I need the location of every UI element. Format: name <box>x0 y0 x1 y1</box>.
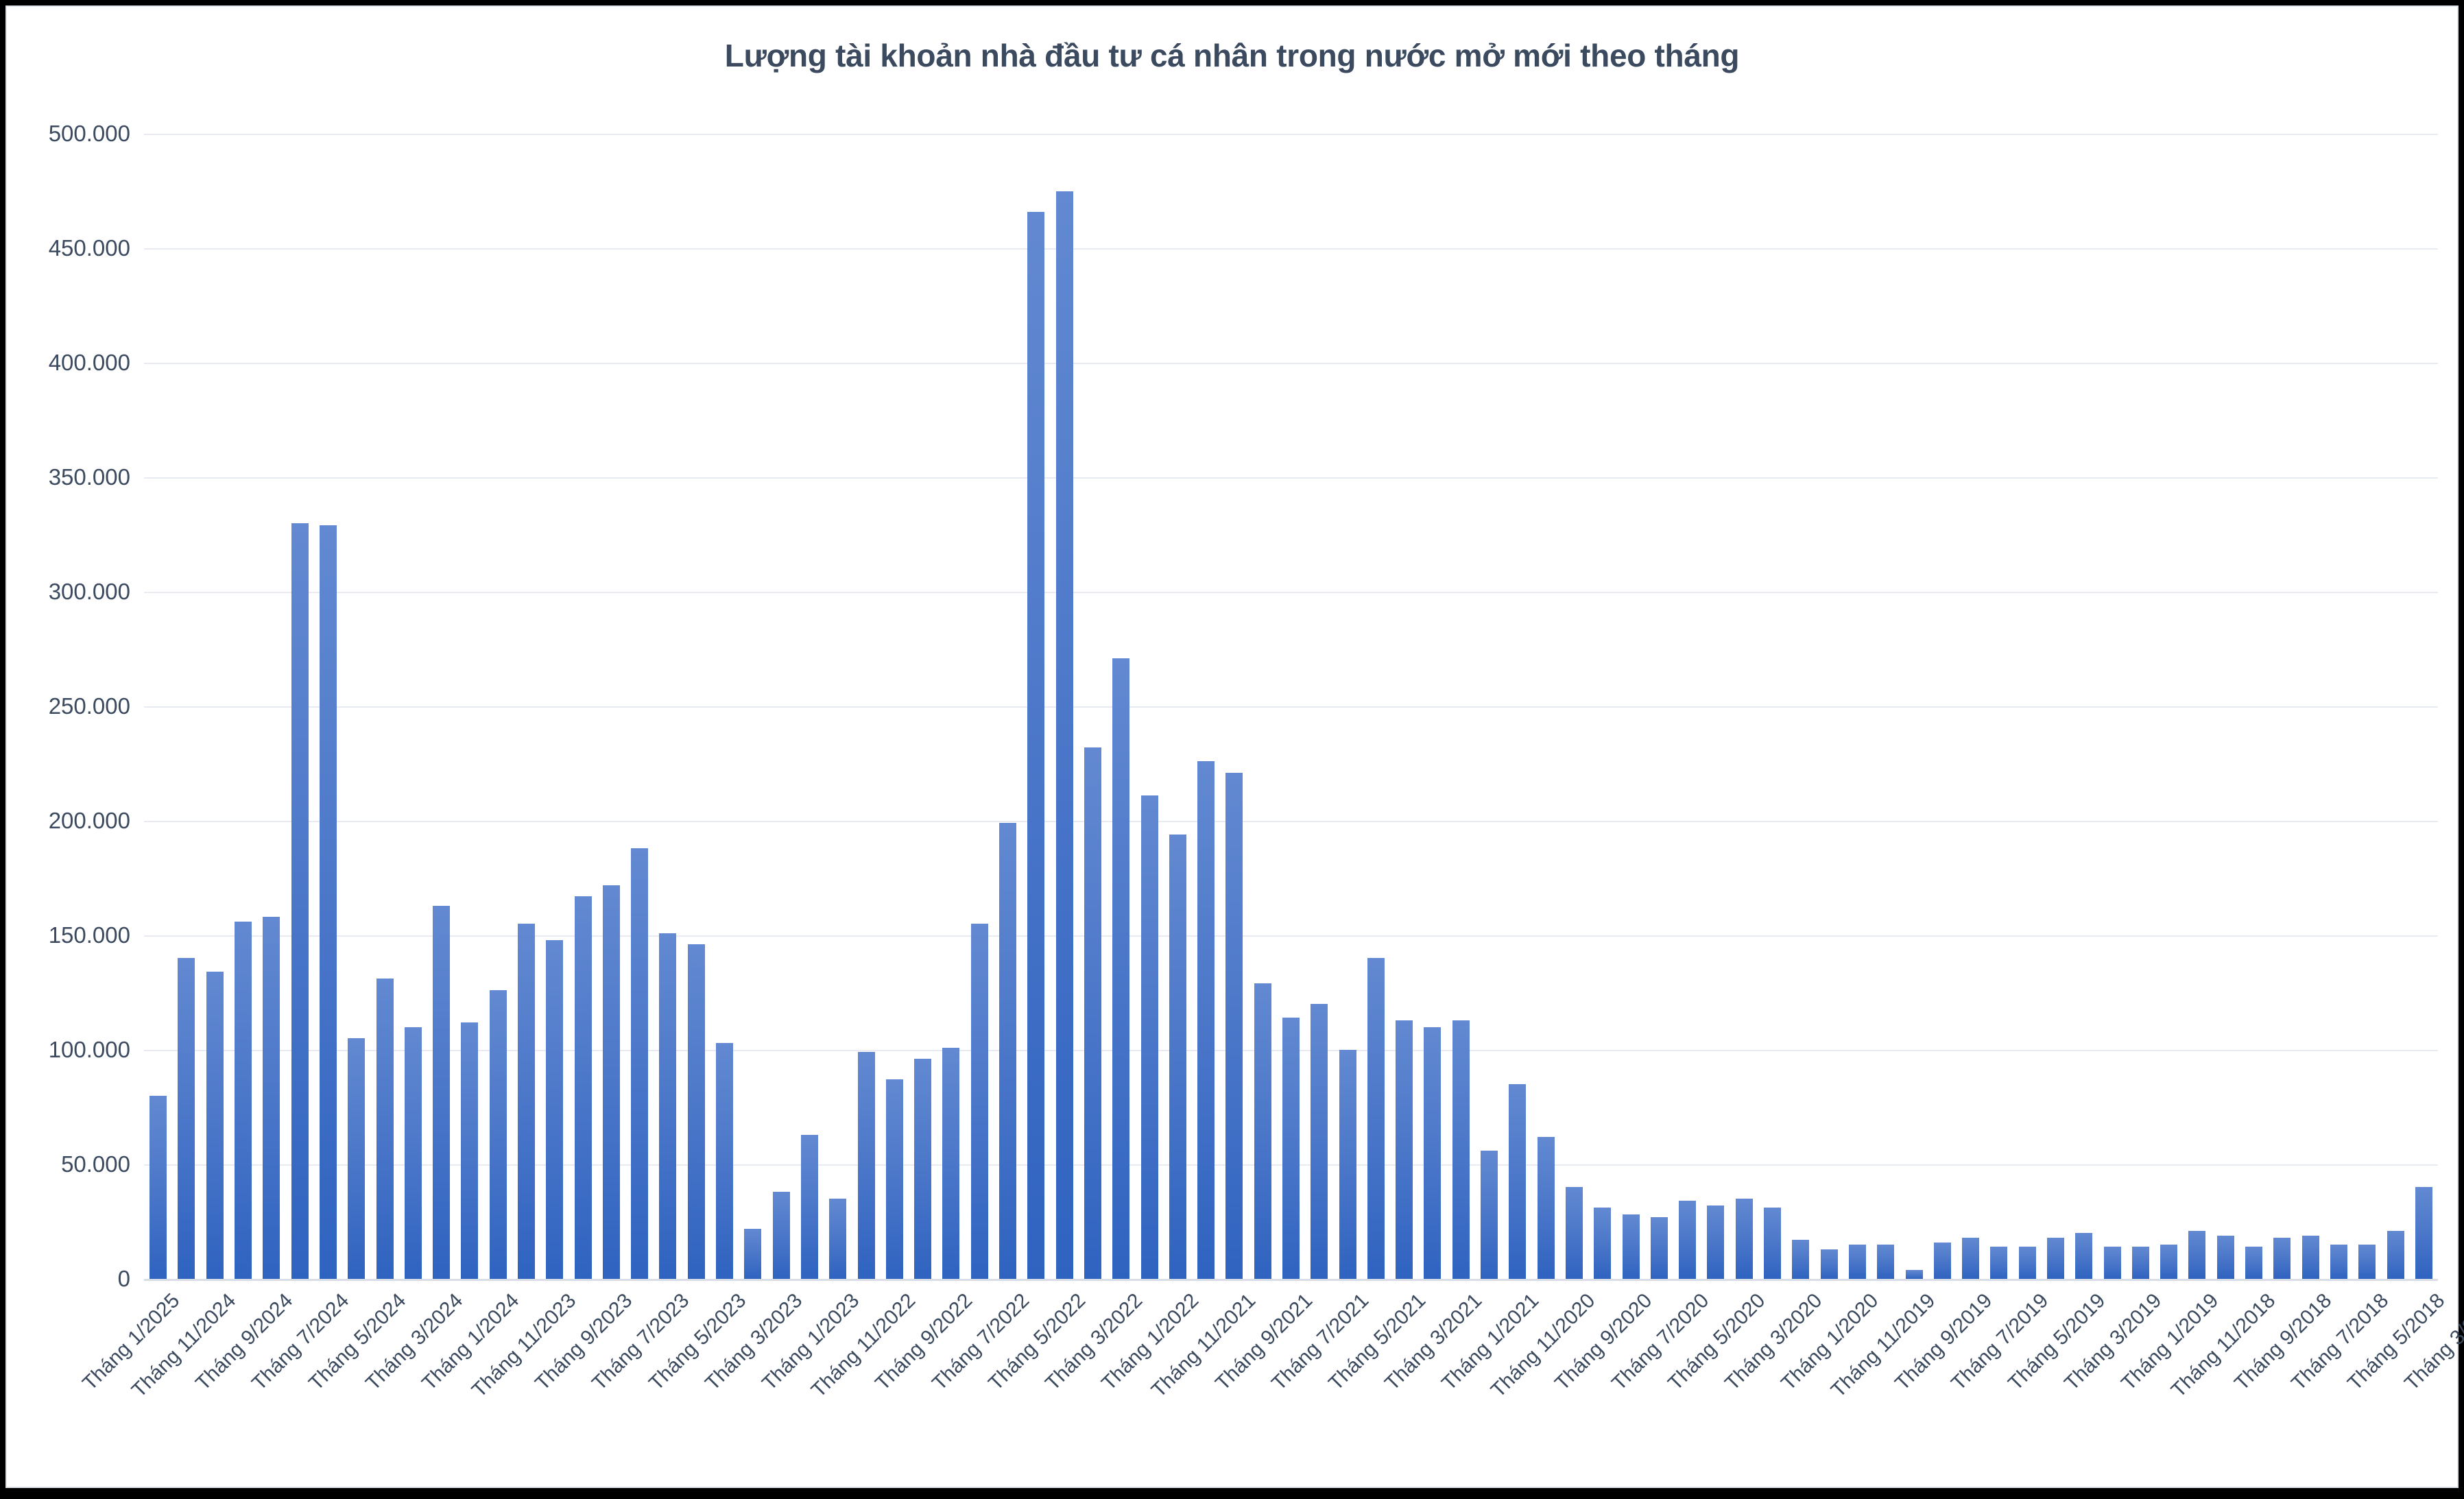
bar[interactable] <box>1481 1151 1498 1279</box>
bar[interactable] <box>2132 1247 2149 1279</box>
bar[interactable] <box>263 917 280 1279</box>
bar[interactable] <box>178 958 195 1279</box>
bar[interactable] <box>433 906 450 1279</box>
bar[interactable] <box>2160 1245 2177 1279</box>
bar[interactable] <box>2358 1245 2376 1279</box>
bar[interactable] <box>1736 1199 1753 1279</box>
bar[interactable] <box>744 1229 761 1279</box>
y-axis-tick-label: 350.000 <box>0 464 130 490</box>
bar[interactable] <box>348 1038 365 1279</box>
bar[interactable] <box>490 990 507 1279</box>
bar[interactable] <box>1254 983 1271 1279</box>
bar[interactable] <box>999 823 1016 1279</box>
y-axis-tick-label: 250.000 <box>0 693 130 719</box>
bar[interactable] <box>1452 1020 1470 1279</box>
bar[interactable] <box>1990 1247 2007 1279</box>
bar[interactable] <box>603 885 620 1279</box>
bar[interactable] <box>1792 1240 1809 1279</box>
bar[interactable] <box>206 972 224 1279</box>
bar-series <box>144 134 2438 1279</box>
bar[interactable] <box>1651 1217 1668 1279</box>
bar[interactable] <box>858 1052 875 1279</box>
bar[interactable] <box>1027 212 1044 1279</box>
y-axis-tick-label: 500.000 <box>0 121 130 147</box>
bar[interactable] <box>773 1192 790 1279</box>
bar[interactable] <box>2245 1247 2262 1279</box>
bar[interactable] <box>2387 1231 2404 1279</box>
bar[interactable] <box>688 944 705 1279</box>
bar[interactable] <box>801 1135 818 1279</box>
bar[interactable] <box>2104 1247 2121 1279</box>
bar[interactable] <box>1339 1050 1356 1279</box>
plot-area: 500.000450.000400.000350.000300.000250.0… <box>144 134 2438 1279</box>
y-axis-tick-label: 400.000 <box>0 350 130 376</box>
chart-card: Lượng tài khoản nhà đầu tư cá nhân trong… <box>5 5 2459 1488</box>
bar[interactable] <box>1877 1245 1894 1279</box>
bar[interactable] <box>2217 1236 2234 1279</box>
y-axis-tick-label: 0 <box>0 1266 130 1292</box>
bar[interactable] <box>2330 1245 2347 1279</box>
bar[interactable] <box>1906 1270 1923 1279</box>
bar[interactable] <box>1169 835 1186 1279</box>
bar[interactable] <box>631 848 648 1279</box>
y-axis-tick-label: 50.000 <box>0 1151 130 1177</box>
bar[interactable] <box>2415 1187 2432 1279</box>
y-axis-tick-label: 200.000 <box>0 808 130 834</box>
bar[interactable] <box>2302 1236 2319 1279</box>
bar[interactable] <box>1566 1187 1583 1279</box>
bar[interactable] <box>575 896 592 1279</box>
bar[interactable] <box>2273 1238 2290 1279</box>
bar[interactable] <box>235 922 252 1279</box>
bar[interactable] <box>942 1048 959 1279</box>
bar[interactable] <box>1282 1018 1300 1279</box>
y-axis-tick-label: 450.000 <box>0 235 130 261</box>
bar[interactable] <box>1084 747 1101 1279</box>
bar[interactable] <box>886 1079 903 1279</box>
bar[interactable] <box>291 523 309 1279</box>
bar[interactable] <box>376 979 394 1279</box>
bar[interactable] <box>1396 1020 1413 1279</box>
bar[interactable] <box>829 1199 846 1279</box>
bar[interactable] <box>1538 1137 1555 1279</box>
bar[interactable] <box>1849 1245 1866 1279</box>
chart-title: Lượng tài khoản nhà đầu tư cá nhân trong… <box>7 37 2457 74</box>
bar[interactable] <box>1311 1004 1328 1279</box>
bar[interactable] <box>1821 1249 1838 1279</box>
bar[interactable] <box>2047 1238 2064 1279</box>
bar[interactable] <box>1594 1208 1611 1279</box>
bar[interactable] <box>1679 1201 1696 1279</box>
bar[interactable] <box>1225 773 1243 1279</box>
bar[interactable] <box>320 525 337 1279</box>
bar[interactable] <box>716 1043 733 1279</box>
y-axis-tick-label: 100.000 <box>0 1037 130 1063</box>
bar[interactable] <box>405 1027 422 1279</box>
bar[interactable] <box>2019 1247 2036 1279</box>
gridline <box>144 1279 2438 1281</box>
bar[interactable] <box>2188 1231 2205 1279</box>
bar[interactable] <box>1509 1084 1526 1279</box>
x-axis: Tháng 1/2025Tháng 11/2024Tháng 9/2024Thá… <box>144 1289 2438 1495</box>
bar[interactable] <box>1764 1208 1781 1279</box>
bar[interactable] <box>461 1022 478 1279</box>
bar[interactable] <box>1367 958 1385 1279</box>
bar[interactable] <box>2075 1233 2092 1279</box>
bar[interactable] <box>659 933 676 1279</box>
bar[interactable] <box>1056 191 1073 1280</box>
bar[interactable] <box>914 1059 931 1279</box>
bar[interactable] <box>1141 795 1158 1279</box>
y-axis-tick-label: 150.000 <box>0 922 130 948</box>
bar[interactable] <box>1424 1027 1441 1279</box>
bar[interactable] <box>971 924 988 1279</box>
bar[interactable] <box>149 1096 167 1279</box>
bar[interactable] <box>1112 658 1129 1279</box>
bar[interactable] <box>546 940 563 1279</box>
bar[interactable] <box>1934 1243 1951 1279</box>
bar[interactable] <box>518 924 535 1279</box>
bar[interactable] <box>1707 1206 1724 1279</box>
y-axis-tick-label: 300.000 <box>0 579 130 605</box>
bar[interactable] <box>1197 761 1215 1279</box>
bar[interactable] <box>1962 1238 1979 1279</box>
bar[interactable] <box>1623 1214 1640 1279</box>
